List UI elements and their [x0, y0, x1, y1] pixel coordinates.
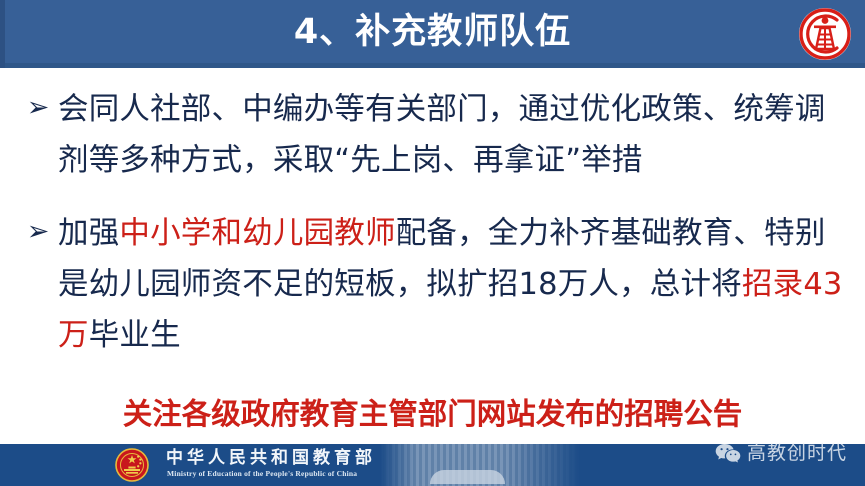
- bullet-item-2: ➢ 加强中小学和幼儿园教师配备，全力补齐基础教育、特别是幼儿园师资不足的短板，拟…: [0, 208, 865, 361]
- slide-content: ➢ 会同人社部、中编办等有关部门，通过优化政策、统筹调剂等多种方式，采取“先上岗…: [0, 72, 865, 444]
- bullet-arrow-icon: ➢: [18, 208, 58, 255]
- callout-text: 关注各级政府教育主管部门网站发布的招聘公告: [0, 394, 865, 434]
- china-national-emblem: [114, 447, 150, 483]
- bullet-1-segment-0: 会同人社部、中编办等有关部门，通过优化政策、统筹调剂等多种方式，采取“先上岗、再…: [58, 92, 826, 178]
- slide-canvas: 4、补充教师队伍 ➢ 会同人社部、中编办等有关部门，通过优化政策、统筹调剂等多种…: [0, 0, 865, 486]
- ministry-building-dome: [430, 470, 505, 484]
- slide-footer-bar: 中华人民共和国教育部 Ministry of Education of the …: [0, 444, 865, 486]
- tower-emblem-logo: [797, 6, 853, 62]
- bullet-arrow-icon: ➢: [18, 84, 58, 131]
- slide-header-bar: 4、补充教师队伍: [0, 0, 865, 68]
- ministry-name-en: Ministry of Education of the People's Re…: [167, 469, 357, 479]
- bullet-text-1: 会同人社部、中编办等有关部门，通过优化政策、统筹调剂等多种方式，采取“先上岗、再…: [58, 84, 865, 186]
- bullet-item-1: ➢ 会同人社部、中编办等有关部门，通过优化政策、统筹调剂等多种方式，采取“先上岗…: [0, 84, 865, 186]
- page-title: 4、补充教师队伍: [0, 8, 865, 56]
- bullet-2-segment-0: 加强: [58, 216, 119, 251]
- bullet-2-segment-4: 毕业生: [89, 318, 181, 353]
- header-underline: [0, 63, 865, 68]
- bullet-2-segment-1-highlight: 中小学和幼儿园教师: [119, 216, 395, 251]
- ministry-name-cn: 中华人民共和国教育部: [166, 448, 376, 468]
- bullet-text-2: 加强中小学和幼儿园教师配备，全力补齐基础教育、特别是幼儿园师资不足的短板，拟扩招…: [58, 208, 865, 361]
